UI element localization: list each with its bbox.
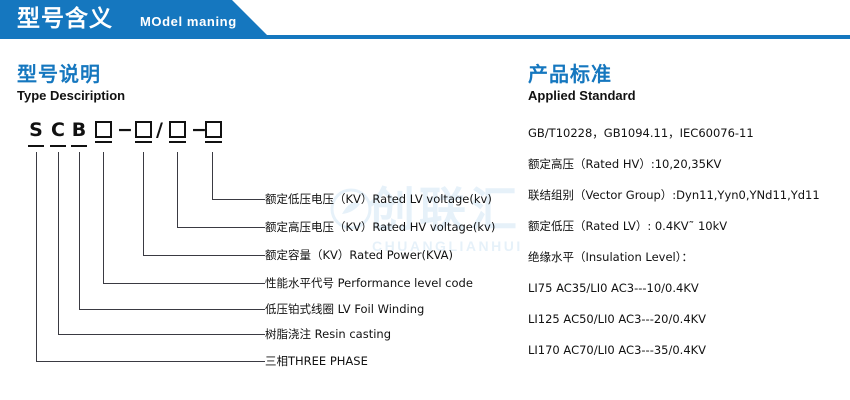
callout-label-resin-casting: 树脂浇注 Resin casting: [265, 327, 391, 341]
page-root: 型号含义 MOdel maning 型号说明 Type Desciription…: [0, 0, 850, 400]
right-section-title: 产品标准 Applied Standard: [528, 62, 636, 105]
leader-vline-3: [143, 152, 144, 255]
model-code-underline: [71, 145, 87, 147]
model-code-underline: [135, 141, 152, 143]
callout-label-rated-power: 额定容量（KV）Rated Power(KVA): [265, 248, 453, 262]
model-code-box: [95, 121, 112, 138]
model-code-underline: [50, 145, 66, 147]
model-code-underline: [28, 145, 44, 147]
leader-vline-4: [103, 152, 104, 283]
standard-line-vector-group: 联结组别（Vector Group）:Dyn11,Yyn0,YNd11,Yd11: [528, 188, 820, 203]
standard-line-li75: LI75 AC35/LI0 AC3---10/0.4KV: [528, 281, 699, 296]
leader-hline-6: [58, 334, 265, 335]
model-code-underline: [95, 141, 112, 143]
left-section-title-cn: 型号说明: [17, 62, 125, 86]
page-header-banner: 型号含义 MOdel maning: [0, 0, 850, 42]
left-section-title-en: Type Desciription: [17, 87, 125, 105]
leader-vline-6: [58, 152, 59, 334]
callout-label-rated-hv-voltage: 额定高压电压（KV）Rated HV voltage(kv): [265, 220, 495, 234]
model-code-cell-s: S: [28, 118, 44, 147]
leader-hline-2: [177, 227, 265, 228]
leader-hline-4: [103, 283, 265, 284]
model-code-cell-b: B: [71, 118, 87, 147]
model-code-box: [169, 121, 186, 138]
leader-hline-1: [212, 199, 265, 200]
model-code-box: [205, 121, 222, 138]
leader-hline-5: [79, 309, 265, 310]
model-code-glyph: S: [28, 118, 44, 142]
model-code-cell-c: C: [50, 118, 66, 147]
leader-vline-1: [212, 152, 213, 199]
model-code-underline: [169, 141, 186, 143]
callout-label-three-phase: 三相THREE PHASE: [265, 354, 368, 368]
model-code-box: [135, 121, 152, 138]
leader-hline-3: [143, 255, 265, 256]
leader-vline-7: [36, 152, 37, 361]
standard-line-rated-hv: 额定高压（Rated HV）:10,20,35KV: [528, 157, 721, 172]
model-code-glyph: C: [50, 118, 66, 142]
left-section-title: 型号说明 Type Desciription: [17, 62, 125, 105]
leader-hline-7: [36, 361, 265, 362]
model-code-cell-box-4: [205, 118, 222, 143]
leader-vline-2: [177, 152, 178, 227]
callout-label-lv-foil-winding: 低压铂式线圈 LV Foil Winding: [265, 302, 424, 316]
model-code-glyph: B: [71, 118, 87, 142]
banner-underline-rule: [0, 35, 850, 39]
banner-title-cn: 型号含义: [17, 4, 113, 34]
standard-line-li170: LI170 AC70/LI0 AC3---35/0.4KV: [528, 343, 706, 358]
right-section-title-cn: 产品标准: [528, 62, 636, 86]
callout-label-rated-lv-voltage: 额定低压电压（KV）Rated LV voltage(kv): [265, 192, 492, 206]
banner-title-en: MOdel maning: [140, 13, 237, 31]
callout-label-performance-level-code: 性能水平代号 Performance level code: [265, 276, 473, 290]
model-code-cell-box-3: [169, 118, 186, 143]
standard-line-insulation-level: 绝缘水平（Insulation Level）：: [528, 250, 693, 265]
standard-line-rated-lv: 额定低压（Rated LV）: 0.4KV˜ 10kV: [528, 219, 727, 234]
model-code-separator-slash: /: [156, 118, 163, 142]
model-code-underline: [205, 141, 222, 143]
right-section-title-en: Applied Standard: [528, 87, 636, 105]
model-code-cell-box-1: [95, 118, 112, 143]
standard-line-gb-iec: GB/T10228，GB1094.11，IEC60076-11: [528, 126, 754, 141]
leader-vline-5: [79, 152, 80, 309]
standard-line-li125: LI125 AC50/LI0 AC3---20/0.4KV: [528, 312, 706, 327]
model-code-separator-dash-1: −: [117, 118, 133, 142]
model-code-cell-box-2: [135, 118, 152, 143]
